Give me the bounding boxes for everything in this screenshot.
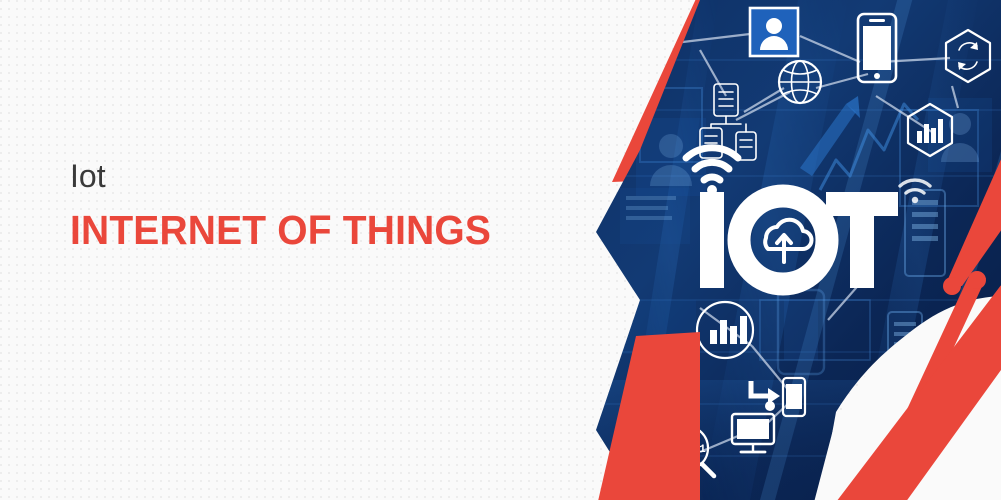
user-avatar-icon <box>750 8 798 56</box>
iot-banner: Iot INTERNET OF THINGS <box>0 0 1001 500</box>
page-title: INTERNET OF THINGS <box>70 210 491 251</box>
kicker-text: Iot <box>70 160 513 192</box>
headline-group: Iot INTERNET OF THINGS <box>70 160 513 251</box>
